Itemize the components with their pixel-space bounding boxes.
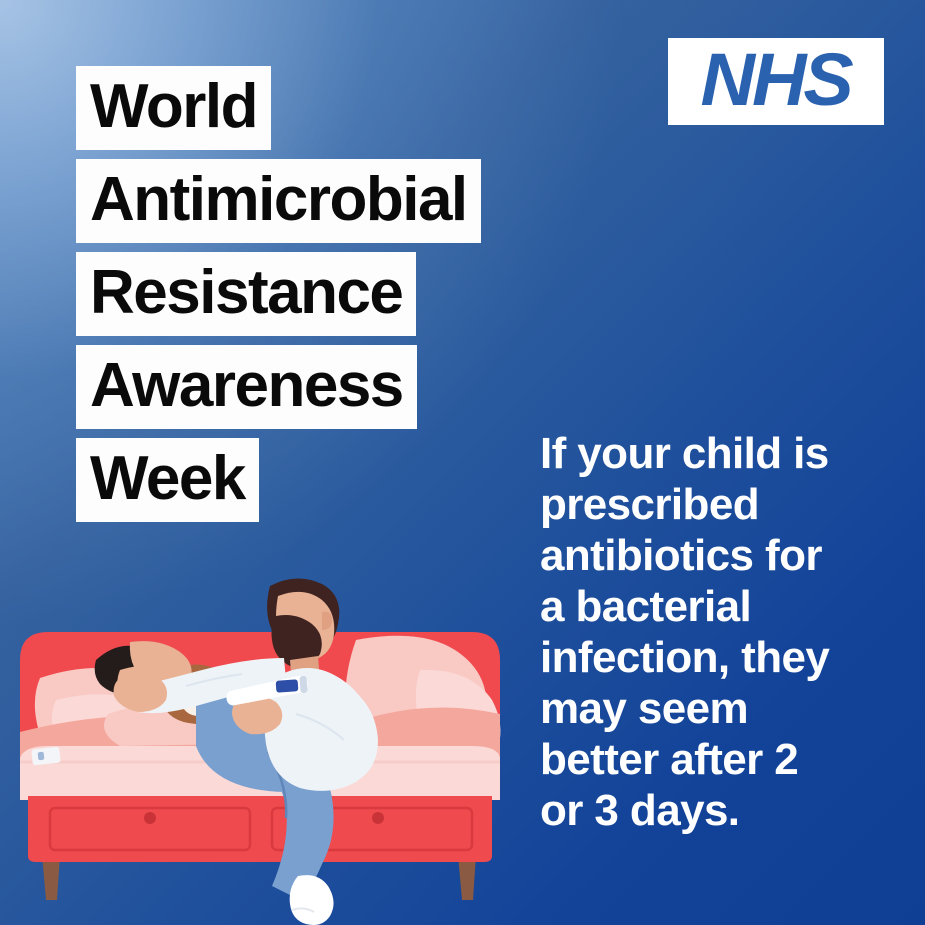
page-title: World Antimicrobial Resistance Awareness… (76, 66, 481, 531)
bedside-illustration-svg (0, 500, 520, 925)
body-line-2: prescribed (540, 479, 900, 530)
headline-line-1: World (76, 66, 271, 150)
tissue-pack (31, 747, 61, 766)
body-line-1: If your child is (540, 428, 900, 479)
nhs-logo: NHS (668, 38, 884, 125)
awareness-poster: NHS World Antimicrobial Resistance Aware… (0, 0, 925, 925)
body-message: If your child is prescribed antibiotics … (540, 428, 900, 836)
body-line-7: better after 2 (540, 734, 900, 785)
headline-line-2: Antimicrobial (76, 159, 481, 243)
body-line-6: may seem (540, 683, 900, 734)
drawer-knob-right (372, 812, 384, 824)
headline-line-3: Resistance (76, 252, 416, 336)
nhs-logo-text: NHS (701, 43, 851, 117)
body-line-8: or 3 days. (540, 785, 900, 836)
body-line-4: a bacterial (540, 581, 900, 632)
drawer-knob-left (144, 812, 156, 824)
bedside-illustration (0, 500, 520, 925)
bed-base (28, 796, 492, 862)
body-line-3: antibiotics for (540, 530, 900, 581)
body-line-5: infection, they (540, 632, 900, 683)
headline-line-4: Awareness (76, 345, 417, 429)
